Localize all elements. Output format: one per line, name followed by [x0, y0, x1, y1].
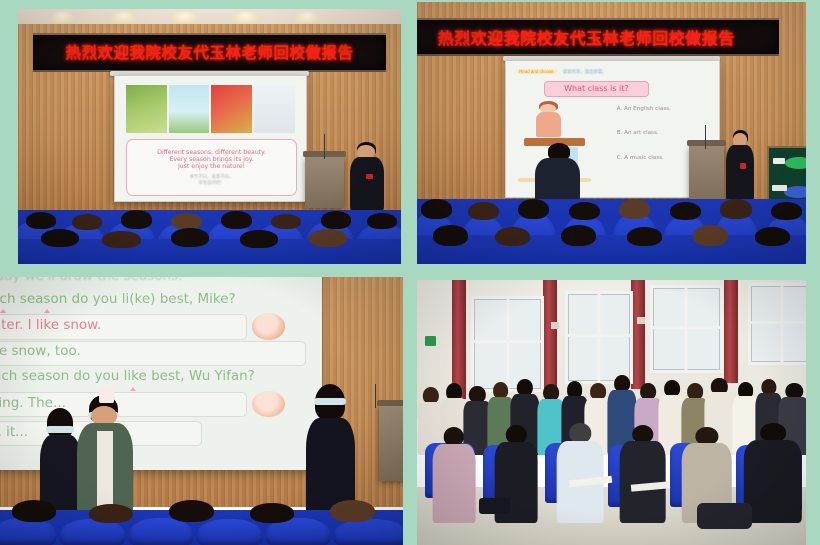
audience-head: [619, 199, 650, 219]
chalkboard-word-card: [773, 158, 785, 164]
audience-head: [309, 229, 347, 247]
ceiling-spot-light: [294, 12, 321, 25]
podium: [689, 146, 724, 204]
wall-fixture: [637, 317, 645, 324]
lecture-hall-wide-shot: 热烈欢迎我院校友代玉林老师回校做报告 Different seasons, di…: [18, 9, 401, 264]
stress-mark: [44, 309, 50, 313]
podium: [379, 406, 403, 481]
audience-head: [421, 199, 452, 219]
audience-head: [250, 503, 294, 523]
audience-head: [771, 202, 802, 220]
audience-head: [561, 225, 596, 246]
welcome-banner-text: 热烈欢迎我院校友代玉林老师回校做报告: [65, 41, 353, 63]
audience-head: [271, 214, 302, 230]
teacher-body: [726, 145, 754, 204]
slide-chinese-line-2: 享受自然吧！: [198, 180, 224, 186]
audience-head: [12, 500, 56, 522]
audience-head: [433, 225, 468, 245]
panel-top-left[interactable]: 热烈欢迎我院校友代玉林老师回校做报告 Different seasons, di…: [18, 9, 401, 264]
welcome-banner-text: 热烈欢迎我院校友代玉林老师回校做报告: [438, 25, 735, 49]
seat: [60, 519, 124, 545]
stress-mark: [130, 387, 136, 391]
dialogue-line-4: Which season do you like best, Wu Yifan?: [0, 368, 255, 384]
window: [650, 285, 722, 373]
audience-head: [240, 230, 278, 247]
audience-head: [518, 199, 549, 219]
front-row-person: [744, 423, 802, 523]
backpack: [697, 503, 751, 530]
audience-seating-front: [417, 235, 806, 264]
slide-question: What class is it?: [544, 81, 649, 97]
audience-head: [169, 500, 213, 522]
read-and-choose-tag: Read and choose: [516, 69, 556, 74]
lecture-hall-demo-class: 热烈欢迎我院校友代玉林老师回校做报告 Read and choose 读读对话，…: [417, 2, 806, 264]
audience-head: [321, 211, 352, 229]
wall-sign: [425, 336, 437, 347]
welcome-banner: 热烈欢迎我院校友代玉林老师回校做报告: [33, 33, 385, 71]
welcome-banner: 热烈欢迎我院校友代玉林老师回校做报告: [417, 18, 779, 56]
dialogue-line-3: I like snow, too.: [0, 343, 81, 359]
presenter-body: [350, 157, 384, 213]
seat: [197, 519, 261, 545]
dialogue-line-1: Which season do you li(ke) best, Mike?: [0, 291, 236, 307]
slide-line-3: Just enjoy the nature!: [178, 163, 245, 170]
seat: [334, 519, 403, 545]
student-headband: [314, 398, 346, 405]
slide-line-2: Every season brings its joy.: [169, 156, 253, 163]
season-image-summer: [169, 85, 210, 132]
microphone: [705, 125, 706, 149]
audience-head: [171, 228, 209, 247]
seat: [129, 518, 193, 545]
audience-head: [121, 210, 152, 228]
podium: [305, 157, 343, 208]
slide-text-box: Different seasons, different beauty. Eve…: [126, 139, 297, 196]
panel-bottom-right[interactable]: [417, 280, 806, 545]
audience-seating: [0, 510, 403, 545]
season-image-winter: [254, 85, 295, 132]
front-row-person: [619, 425, 666, 523]
slide-header-chinese: 读读对话，选出答案。: [563, 69, 607, 75]
chalkboard-graphic-blue: [784, 186, 806, 198]
student-role-play: Today we'll draw the seasons. Which seas…: [0, 277, 403, 545]
slide-option-b: B. An art class.: [617, 130, 659, 136]
chalkboard-graphic-green: [785, 157, 806, 169]
season-image-strip: [126, 85, 295, 132]
audience-head: [569, 202, 600, 220]
presenter-badge: [366, 174, 373, 180]
audience-head: [670, 202, 701, 220]
slide-header: Read and choose 读读对话，选出答案。: [516, 69, 606, 75]
wall-pillar: [724, 280, 738, 383]
audience-head: [330, 500, 374, 522]
teacher-badge: [740, 163, 746, 169]
audience-head: [26, 212, 57, 229]
panel-top-right[interactable]: 热烈欢迎我院校友代玉林老师回校做报告 Read and choose 读读对话，…: [417, 2, 806, 264]
audience-seating-front: [18, 239, 401, 265]
handbag: [479, 498, 510, 514]
front-row-seats: [417, 434, 806, 545]
chalkboard-word-card: [772, 185, 786, 191]
audience-head: [468, 202, 499, 220]
teacher-standing: [724, 130, 759, 203]
season-image-spring: [126, 85, 167, 132]
stress-mark: [0, 309, 6, 313]
microphone: [324, 134, 325, 160]
audience-head: [41, 229, 79, 247]
slide-option-c: C. A music class.: [617, 155, 664, 161]
dialogue-line-2: Winter. I like snow.: [0, 317, 101, 333]
window: [565, 291, 633, 384]
audience-head: [221, 211, 252, 229]
student-hair: [47, 408, 74, 437]
audience-head: [720, 199, 751, 219]
front-row-person: [557, 423, 604, 523]
illustration-boy-body: [536, 112, 561, 137]
student-paper-crown: [99, 387, 114, 402]
audience-head: [72, 214, 103, 230]
microphone: [375, 384, 376, 408]
slide-option-a: A. An English class.: [617, 106, 671, 112]
presenter: [347, 142, 389, 213]
audience-head: [102, 231, 140, 248]
window: [748, 283, 806, 366]
dialogue-line-0: Today we'll draw the seasons.: [0, 277, 182, 284]
audience-seated-and-standing: [417, 280, 806, 545]
audience-head: [171, 213, 202, 229]
character-face-mike: [252, 313, 285, 339]
audience-head: [89, 504, 133, 523]
ceiling-spot-light: [171, 12, 198, 25]
front-row-person: [433, 427, 476, 523]
audience-head: [627, 227, 662, 245]
season-image-autumn: [211, 85, 252, 132]
photo-collage: 热烈欢迎我院校友代玉林老师回校做报告 Different seasons, di…: [0, 0, 820, 545]
audience-head: [693, 225, 728, 246]
projection-screen: Different seasons, different beauty. Eve…: [114, 75, 308, 202]
audience-head: [755, 227, 790, 245]
dialogue-line-6: Yes, it...: [0, 424, 28, 440]
slide-line-1: Different seasons, different beauty.: [157, 149, 266, 156]
audience-head: [495, 227, 530, 245]
wall-fixture: [551, 322, 559, 329]
ceiling-spot-light: [110, 12, 137, 25]
panel-bottom-left[interactable]: Today we'll draw the seasons. Which seas…: [0, 277, 403, 545]
audience-head: [367, 213, 398, 229]
student-headband: [46, 426, 74, 433]
character-face-wu-yifan: [252, 391, 285, 417]
student-inner-shirt: [97, 431, 113, 506]
